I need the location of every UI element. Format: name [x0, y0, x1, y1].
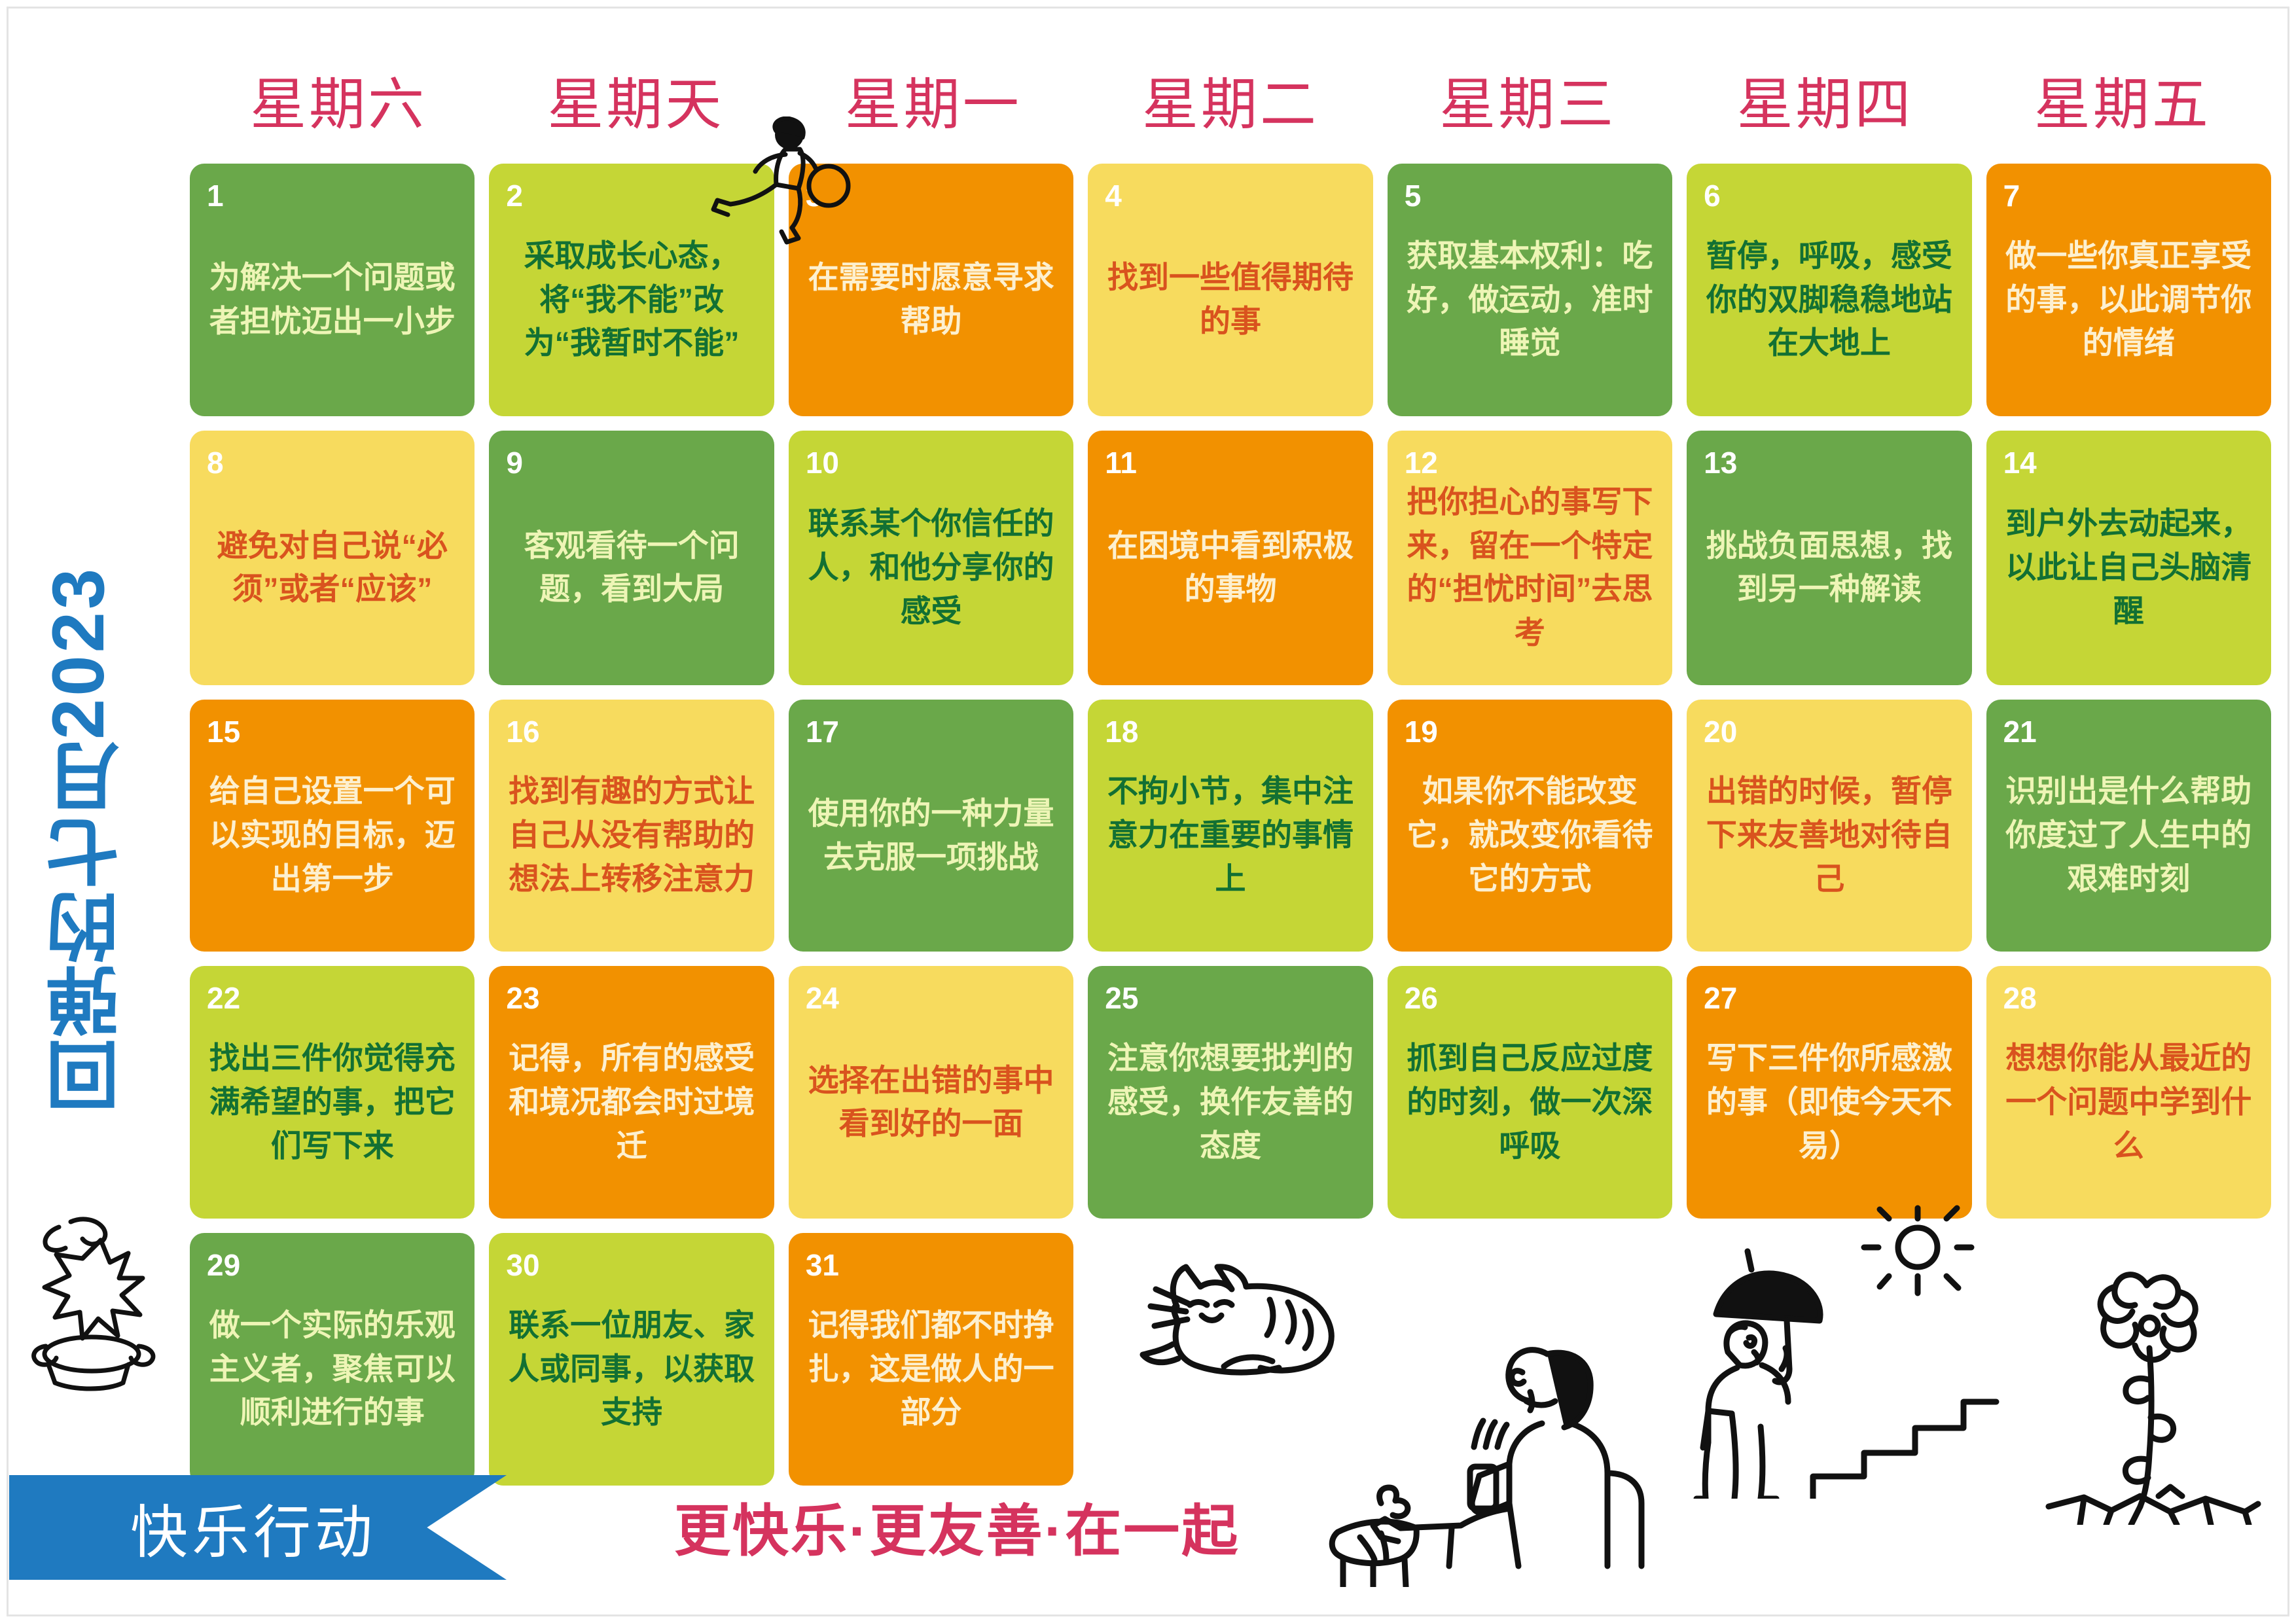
calendar-day-action-text: 暂停，呼吸，感受你的双脚稳稳地站在大地上	[1704, 213, 1954, 403]
calendar-day-number: 14	[2003, 448, 2254, 478]
calendar-day-number: 28	[2003, 983, 2254, 1013]
calendar-day-action-text: 使用你的一种力量去克服一项挑战	[806, 749, 1056, 939]
calendar-day-action-text: 在需要时愿意寻求帮助	[806, 213, 1056, 403]
calendar-day-action-text: 出错的时候，暂停下来友善地对待自己	[1704, 749, 1954, 939]
calendar-day-number: 4	[1105, 181, 1355, 211]
calendar-day-number: 29	[207, 1250, 457, 1280]
calendar-cell[interactable]: 15给自己设置一个可以实现的目标，迈出第一步	[190, 700, 475, 952]
page-title-year: 2023	[36, 566, 120, 740]
calendar-cell[interactable]: 2采取成长心态，将“我不能”改为“我暂时不能”	[489, 164, 774, 416]
brand-banner: 快乐行动	[9, 1475, 507, 1580]
calendar-day-action-text: 到户外去动起来，以此让自己头脑清醒	[2003, 480, 2254, 672]
weekday-sunday: 星期天	[487, 62, 784, 147]
calendar-cell[interactable]: 13挑战负面思想，找到另一种解读	[1687, 431, 1971, 685]
calendar-day-action-text: 给自己设置一个可以实现的目标，迈出第一步	[207, 749, 457, 939]
calendar-day-action-text: 找到一些值得期待的事	[1105, 213, 1355, 403]
calendar-day-number: 25	[1105, 983, 1355, 1013]
calendar-cell[interactable]: 20出错的时候，暂停下来友善地对待自己	[1687, 700, 1971, 952]
hand-crumpled-paper-icon	[20, 1207, 209, 1397]
brand-tagline: 更快乐·更友善·在一起	[674, 1485, 1240, 1567]
calendar-cell[interactable]: 8避免对自己说“必须”或者“应该”	[190, 431, 475, 685]
calendar-day-number: 5	[1405, 181, 1655, 211]
calendar-cell[interactable]: 16找到有趣的方式让自己从没有帮助的想法上转移注意力	[489, 700, 774, 952]
calendar-day-action-text: 把你担心的事写下来，留在一个特定的“担忧时间”去思考	[1405, 480, 1655, 672]
calendar-cell-empty	[1986, 1233, 2271, 1486]
calendar-day-number: 23	[506, 983, 757, 1013]
calendar-day-number: 18	[1105, 717, 1355, 747]
page-title-month: 回弹的七月	[36, 740, 142, 1113]
weekday-monday: 星期一	[785, 62, 1082, 147]
calendar-day-number: 24	[806, 983, 1056, 1013]
calendar-day-number: 11	[1105, 448, 1355, 478]
calendar-cell[interactable]: 24选择在出错的事中看到好的一面	[789, 966, 1073, 1219]
calendar-day-action-text: 识别出是什么帮助你度过了人生中的艰难时刻	[2003, 749, 2254, 939]
calendar-cell[interactable]: 11在困境中看到积极的事物	[1088, 431, 1372, 685]
calendar-cell[interactable]: 7做一些你真正享受的事，以此调节你的情绪	[1986, 164, 2271, 416]
calendar-day-action-text: 记得，所有的感受和境况都会时过境迁	[506, 1016, 757, 1205]
calendar-day-action-text: 选择在出错的事中看到好的一面	[806, 1016, 1056, 1205]
calendar-cell[interactable]: 26抓到自己反应过度的时刻，做一次深呼吸	[1388, 966, 1672, 1219]
calendar-day-number: 2	[506, 181, 757, 211]
calendar-day-action-text: 联系某个你信任的人，和他分享你的感受	[806, 480, 1056, 672]
calendar-day-number: 21	[2003, 717, 2254, 747]
weekday-thursday: 星期四	[1676, 62, 1973, 147]
calendar-day-action-text: 注意你想要批判的感受，换作友善的态度	[1105, 1016, 1355, 1205]
calendar-cell[interactable]: 19如果你不能改变它，就改变你看待它的方式	[1388, 700, 1672, 952]
page-title: 回弹的七月 2023	[36, 340, 154, 1113]
calendar-cell[interactable]: 28想想你能从最近的一个问题中学到什么	[1986, 966, 2271, 1219]
calendar-day-number: 22	[207, 983, 457, 1013]
brand-flag-label: 快乐行动	[130, 1486, 376, 1569]
calendar-cell[interactable]: 1为解决一个问题或者担忧迈出一小步	[190, 164, 475, 416]
calendar-cell-empty	[1388, 1233, 1672, 1486]
calendar-day-action-text: 联系一位朋友、家人或同事，以获取支持	[506, 1283, 757, 1472]
calendar-day-action-text: 想想你能从最近的一个问题中学到什么	[2003, 1016, 2254, 1205]
calendar-day-action-text: 找出三件你觉得充满希望的事，把它们写下来	[207, 1016, 457, 1205]
calendar-day-number: 3	[806, 181, 1056, 211]
calendar-day-action-text: 如果你不能改变它，就改变你看待它的方式	[1405, 749, 1655, 939]
calendar-day-number: 1	[207, 181, 457, 211]
weekday-saturday: 星期六	[190, 62, 487, 147]
calendar-day-action-text: 避免对自己说“必须”或者“应该”	[207, 480, 457, 672]
calendar-day-action-text: 挑战负面思想，找到另一种解读	[1704, 480, 1954, 672]
calendar-cell[interactable]: 6暂停，呼吸，感受你的双脚稳稳地站在大地上	[1687, 164, 1971, 416]
calendar-day-number: 7	[2003, 181, 2254, 211]
calendar-day-number: 9	[506, 448, 757, 478]
calendar-day-number: 15	[207, 717, 457, 747]
calendar-cell[interactable]: 14到户外去动起来，以此让自己头脑清醒	[1986, 431, 2271, 685]
calendar-cell[interactable]: 18不拘小节，集中注意力在重要的事情上	[1088, 700, 1372, 952]
calendar-day-action-text: 做一个实际的乐观主义者，聚焦可以顺利进行的事	[207, 1283, 457, 1472]
calendar-day-number: 30	[506, 1250, 757, 1280]
calendar-cell[interactable]: 23记得，所有的感受和境况都会时过境迁	[489, 966, 774, 1219]
calendar-cell[interactable]: 27写下三件你所感激的事（即使今天不易）	[1687, 966, 1971, 1219]
calendar-day-number: 10	[806, 448, 1056, 478]
calendar-cell[interactable]: 12把你担心的事写下来，留在一个特定的“担忧时间”去思考	[1388, 431, 1672, 685]
calendar-cell[interactable]: 3在需要时愿意寻求帮助	[789, 164, 1073, 416]
brand-flag: 快乐行动	[9, 1475, 507, 1580]
calendar-day-number: 17	[806, 717, 1056, 747]
calendar-day-action-text: 不拘小节，集中注意力在重要的事情上	[1105, 749, 1355, 939]
calendar-cell[interactable]: 9客观看待一个问题，看到大局	[489, 431, 774, 685]
calendar-day-number: 16	[506, 717, 757, 747]
calendar-day-action-text: 找到有趣的方式让自己从没有帮助的想法上转移注意力	[506, 749, 757, 939]
calendar-day-action-text: 抓到自己反应过度的时刻，做一次深呼吸	[1405, 1016, 1655, 1205]
calendar-day-action-text: 采取成长心态，将“我不能”改为“我暂时不能”	[506, 213, 757, 403]
calendar-day-number: 27	[1704, 983, 1954, 1013]
calendar-day-number: 31	[806, 1250, 1056, 1280]
calendar-cell[interactable]: 31记得我们都不时挣扎，这是做人的一部分	[789, 1233, 1073, 1486]
calendar-cell-empty	[1088, 1233, 1372, 1486]
calendar-cell[interactable]: 5获取基本权利：吃好，做运动，准时睡觉	[1388, 164, 1672, 416]
calendar-day-action-text: 写下三件你所感激的事（即使今天不易）	[1704, 1016, 1954, 1205]
weekday-tuesday: 星期二	[1082, 62, 1379, 147]
calendar-cell[interactable]: 25注意你想要批判的感受，换作友善的态度	[1088, 966, 1372, 1219]
calendar-day-number: 8	[207, 448, 457, 478]
calendar-day-number: 12	[1405, 448, 1655, 478]
weekday-header: 星期六 星期天 星期一 星期二 星期三 星期四 星期五	[190, 62, 2271, 147]
calendar-day-number: 19	[1405, 717, 1655, 747]
calendar-cell[interactable]: 22找出三件你觉得充满希望的事，把它们写下来	[190, 966, 475, 1219]
weekday-wednesday: 星期三	[1379, 62, 1676, 147]
calendar-day-number: 13	[1704, 448, 1954, 478]
calendar-cell[interactable]: 21识别出是什么帮助你度过了人生中的艰难时刻	[1986, 700, 2271, 952]
calendar-day-action-text: 做一些你真正享受的事，以此调节你的情绪	[2003, 213, 2254, 403]
calendar-cell[interactable]: 10联系某个你信任的人，和他分享你的感受	[789, 431, 1073, 685]
calendar-cell-empty	[1687, 1233, 1971, 1486]
calendar-cell[interactable]: 29做一个实际的乐观主义者，聚焦可以顺利进行的事	[190, 1233, 475, 1486]
calendar-day-action-text: 获取基本权利：吃好，做运动，准时睡觉	[1405, 213, 1655, 403]
calendar-day-action-text: 为解决一个问题或者担忧迈出一小步	[207, 213, 457, 403]
calendar-day-number: 6	[1704, 181, 1954, 211]
calendar-day-number: 20	[1704, 717, 1954, 747]
calendar-cell[interactable]: 17使用你的一种力量去克服一项挑战	[789, 700, 1073, 952]
calendar-cell[interactable]: 4找到一些值得期待的事	[1088, 164, 1372, 416]
calendar-day-number: 26	[1405, 983, 1655, 1013]
calendar-day-action-text: 客观看待一个问题，看到大局	[506, 480, 757, 672]
calendar-grid: 1为解决一个问题或者担忧迈出一小步2采取成长心态，将“我不能”改为“我暂时不能”…	[190, 164, 2271, 1486]
weekday-friday: 星期五	[1974, 62, 2271, 147]
calendar-day-action-text: 记得我们都不时挣扎，这是做人的一部分	[806, 1283, 1056, 1472]
calendar-day-action-text: 在困境中看到积极的事物	[1105, 480, 1355, 672]
calendar-cell[interactable]: 30联系一位朋友、家人或同事，以获取支持	[489, 1233, 774, 1486]
